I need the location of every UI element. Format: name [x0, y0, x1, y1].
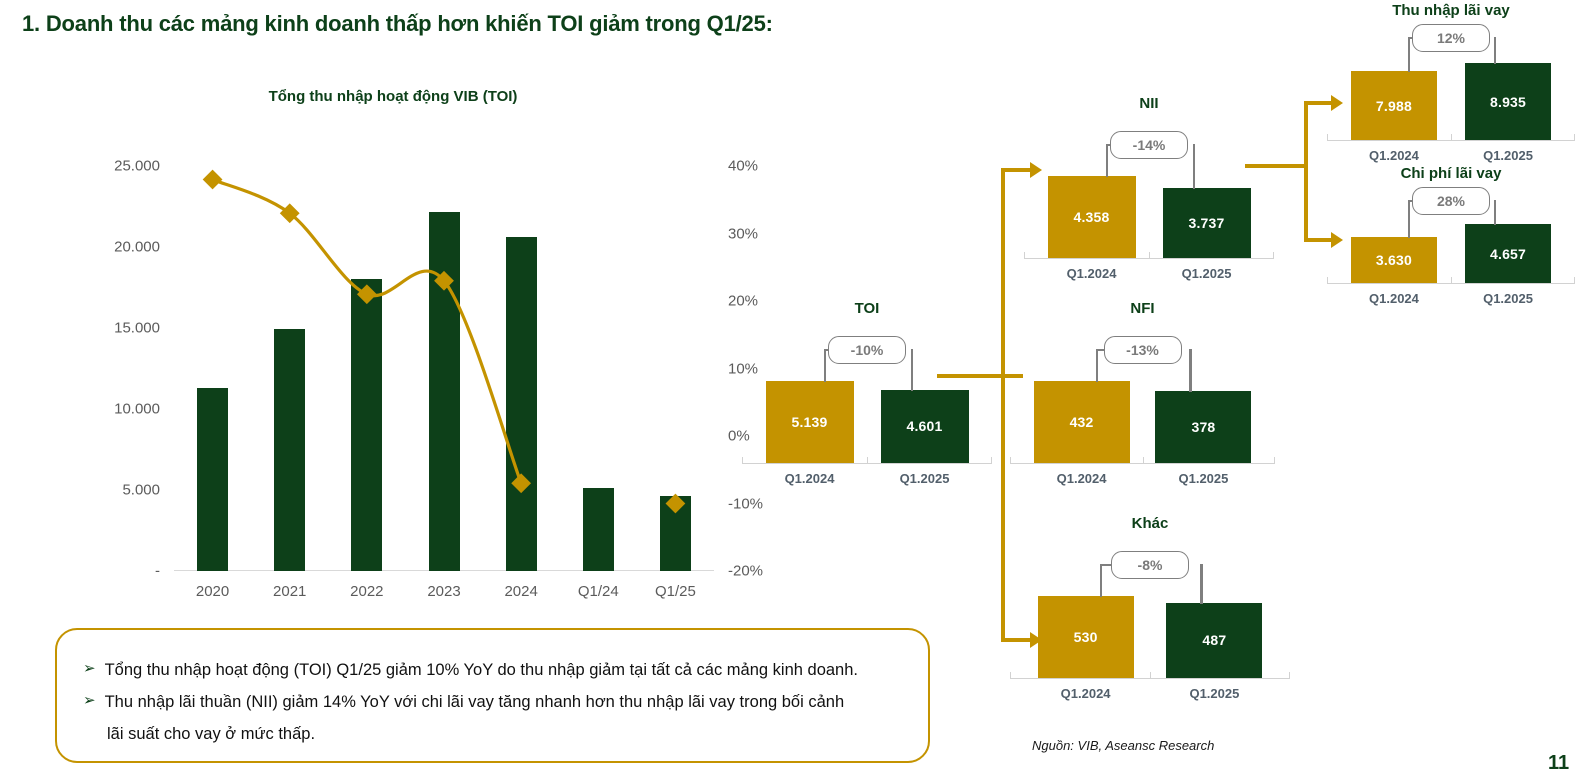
bracket-v-right	[1189, 349, 1191, 392]
y2-axis-tick: 40%	[714, 158, 758, 175]
y-axis-tick: 5.000	[122, 482, 174, 499]
mini-bar-value: 530	[1074, 629, 1098, 645]
mini-tick	[867, 457, 868, 464]
nfi-mini-chart: NFI432378Q1.2024Q1.2025-13%	[1010, 300, 1275, 490]
mini-category-label: Q1.2025	[1182, 266, 1232, 281]
mini-tick	[1289, 672, 1290, 679]
mini-bar-Q1.2024: 432	[1034, 381, 1130, 463]
mini-category-label: Q1.2024	[1057, 471, 1107, 486]
y2-axis-tick: -20%	[714, 563, 763, 580]
y2-axis-tick: 30%	[714, 225, 758, 242]
toi-mini-chart: TOI5.1394.601Q1.2024Q1.2025-10%	[742, 300, 992, 490]
source-note: Nguồn: VIB, Aseansc Research	[1032, 738, 1214, 753]
mini-category-label: Q1.2025	[900, 471, 950, 486]
x-axis-tick: 2023	[427, 583, 460, 600]
thu-nhap-lai-vay-mini-chart: Thu nhập lãi vay7.9888.935Q1.2024Q1.2025…	[1327, 2, 1575, 167]
conn-v-nii-branch	[1304, 101, 1308, 241]
mini-bar-Q1.2024: 5.139	[766, 381, 854, 463]
svck-line-series	[174, 166, 714, 571]
mini-chart-title: Thu nhập lãi vay	[1327, 2, 1575, 19]
mini-chart-title: TOI	[742, 300, 992, 317]
y-axis-tick: 25.000	[114, 158, 174, 175]
mini-tick	[1143, 457, 1144, 464]
mini-bar-Q1.2024: 7.988	[1351, 71, 1437, 140]
delta-pill: -10%	[828, 336, 906, 364]
mini-bar-Q1.2025: 8.935	[1465, 63, 1551, 140]
x-axis-tick: Q1/24	[578, 583, 619, 600]
mini-category-label: Q1.2025	[1179, 471, 1229, 486]
delta-pill: 28%	[1412, 187, 1490, 215]
toi-combo-chart: Tổng thu nhập hoạt động VIB (TOI) -5.000…	[48, 88, 738, 588]
bracket-v-right	[1193, 144, 1195, 189]
bullet-icon: ➢	[83, 654, 96, 683]
mini-tick	[1327, 134, 1328, 141]
mini-category-label: Q1.2024	[1369, 291, 1419, 306]
mini-bar-Q1.2025: 4.601	[881, 390, 969, 463]
note-line-2: ➢ Thu nhập lãi thuần (NII) giảm 14% YoY …	[83, 686, 902, 718]
mini-bar-Q1.2025: 4.657	[1465, 224, 1551, 283]
mini-tick	[1327, 277, 1328, 284]
mini-bar-value: 487	[1202, 632, 1226, 648]
mini-chart-title: NFI	[1010, 300, 1275, 317]
delta-pill: -14%	[1110, 131, 1188, 159]
bracket-v-left	[1100, 564, 1102, 597]
x-axis-tick: 2021	[273, 583, 306, 600]
mini-bar-value: 432	[1070, 414, 1094, 430]
mini-chart-title: Chi phí lãi vay	[1327, 165, 1575, 182]
x-axis-tick: Q1/25	[655, 583, 696, 600]
page-title: 1. Doanh thu các mảng kinh doanh thấp hơ…	[22, 11, 1222, 37]
mini-bar-value: 4.358	[1073, 209, 1109, 225]
note-line-1: ➢ Tổng thu nhập hoạt động (TOI) Q1/25 gi…	[83, 654, 902, 686]
mini-bar-value: 5.139	[791, 414, 827, 430]
mini-tick	[1149, 252, 1150, 259]
chart-title: Tổng thu nhập hoạt động VIB (TOI)	[48, 88, 738, 105]
delta-pill: -8%	[1111, 551, 1189, 579]
mini-chart-title: Khác	[1010, 515, 1290, 532]
mini-bar-Q1.2024: 3.630	[1351, 237, 1437, 283]
mini-bar-value: 4.657	[1490, 246, 1526, 262]
mini-tick	[742, 457, 743, 464]
bracket-v-right	[1200, 564, 1202, 604]
mini-tick	[1010, 457, 1011, 464]
mini-bar-value: 3.737	[1188, 215, 1224, 231]
mini-tick	[1274, 457, 1275, 464]
mini-category-label: Q1.2024	[785, 471, 835, 486]
mini-tick	[1574, 134, 1575, 141]
khac-mini-chart: Khác530487Q1.2024Q1.2025-8%	[1010, 515, 1290, 705]
mini-bar-value: 7.988	[1376, 98, 1412, 114]
mini-bar-Q1.2025: 487	[1166, 603, 1262, 678]
y-axis-tick: -	[155, 563, 174, 580]
mini-category-label: Q1.2025	[1483, 148, 1533, 163]
mini-tick	[1451, 277, 1452, 284]
mini-bar-Q1.2024: 530	[1038, 596, 1134, 678]
y-axis-tick: 20.000	[114, 239, 174, 256]
mini-category-label: Q1.2024	[1067, 266, 1117, 281]
y-axis-tick: 15.000	[114, 320, 174, 337]
bracket-v-left	[1408, 37, 1410, 72]
mini-tick	[1273, 252, 1274, 259]
y2-axis-tick: -10%	[714, 495, 763, 512]
mini-bar-value: 4.601	[906, 418, 942, 434]
bracket-v-right	[1494, 200, 1496, 225]
bracket-v-right	[911, 349, 913, 391]
plot-area: -5.00010.00015.00020.00025.000-20%-10%0%…	[174, 166, 714, 571]
mini-bar-Q1.2025: 378	[1155, 391, 1251, 463]
mini-tick	[1010, 672, 1011, 679]
mini-tick	[991, 457, 992, 464]
mini-category-label: Q1.2024	[1369, 148, 1419, 163]
y-axis-tick: 10.000	[114, 401, 174, 418]
mini-bar-value: 378	[1191, 419, 1215, 435]
mini-chart-title: NII	[1024, 95, 1274, 112]
chi-phi-lai-vay-mini-chart: Chi phí lãi vay3.6304.657Q1.2024Q1.20252…	[1327, 165, 1575, 310]
conn-v-spine	[1001, 168, 1005, 642]
mini-category-label: Q1.2025	[1189, 686, 1239, 701]
mini-category-label: Q1.2024	[1061, 686, 1111, 701]
mini-bar-value: 8.935	[1490, 94, 1526, 110]
x-axis-tick: 2020	[196, 583, 229, 600]
bracket-v-right	[1494, 37, 1496, 64]
mini-bar-Q1.2025: 3.737	[1163, 188, 1251, 258]
note-text-2: Thu nhập lãi thuần (NII) giảm 14% YoY vớ…	[105, 686, 845, 718]
mini-tick	[1024, 252, 1025, 259]
mini-tick	[1150, 672, 1151, 679]
bracket-v-left	[1408, 200, 1410, 238]
note-box: ➢ Tổng thu nhập hoạt động (TOI) Q1/25 gi…	[55, 628, 930, 763]
bracket-v-left	[824, 349, 826, 382]
mini-bar-value: 3.630	[1376, 252, 1412, 268]
page-number: 11	[1548, 752, 1569, 775]
mini-tick	[1451, 134, 1452, 141]
mini-bar-Q1.2024: 4.358	[1048, 176, 1136, 258]
bracket-v-left	[1096, 349, 1098, 382]
bracket-v-left	[1106, 144, 1108, 177]
mini-tick	[1574, 277, 1575, 284]
nii-mini-chart: NII4.3583.737Q1.2024Q1.2025-14%	[1024, 95, 1274, 285]
delta-pill: -13%	[1104, 336, 1182, 364]
note-text-2-continued: lãi suất cho vay ở mức thấp.	[107, 718, 902, 750]
x-axis-tick: 2022	[350, 583, 383, 600]
bullet-icon: ➢	[83, 686, 96, 715]
delta-pill: 12%	[1412, 24, 1490, 52]
mini-category-label: Q1.2025	[1483, 291, 1533, 306]
note-text-1: Tổng thu nhập hoạt động (TOI) Q1/25 giảm…	[105, 654, 858, 686]
x-axis-tick: 2024	[504, 583, 537, 600]
